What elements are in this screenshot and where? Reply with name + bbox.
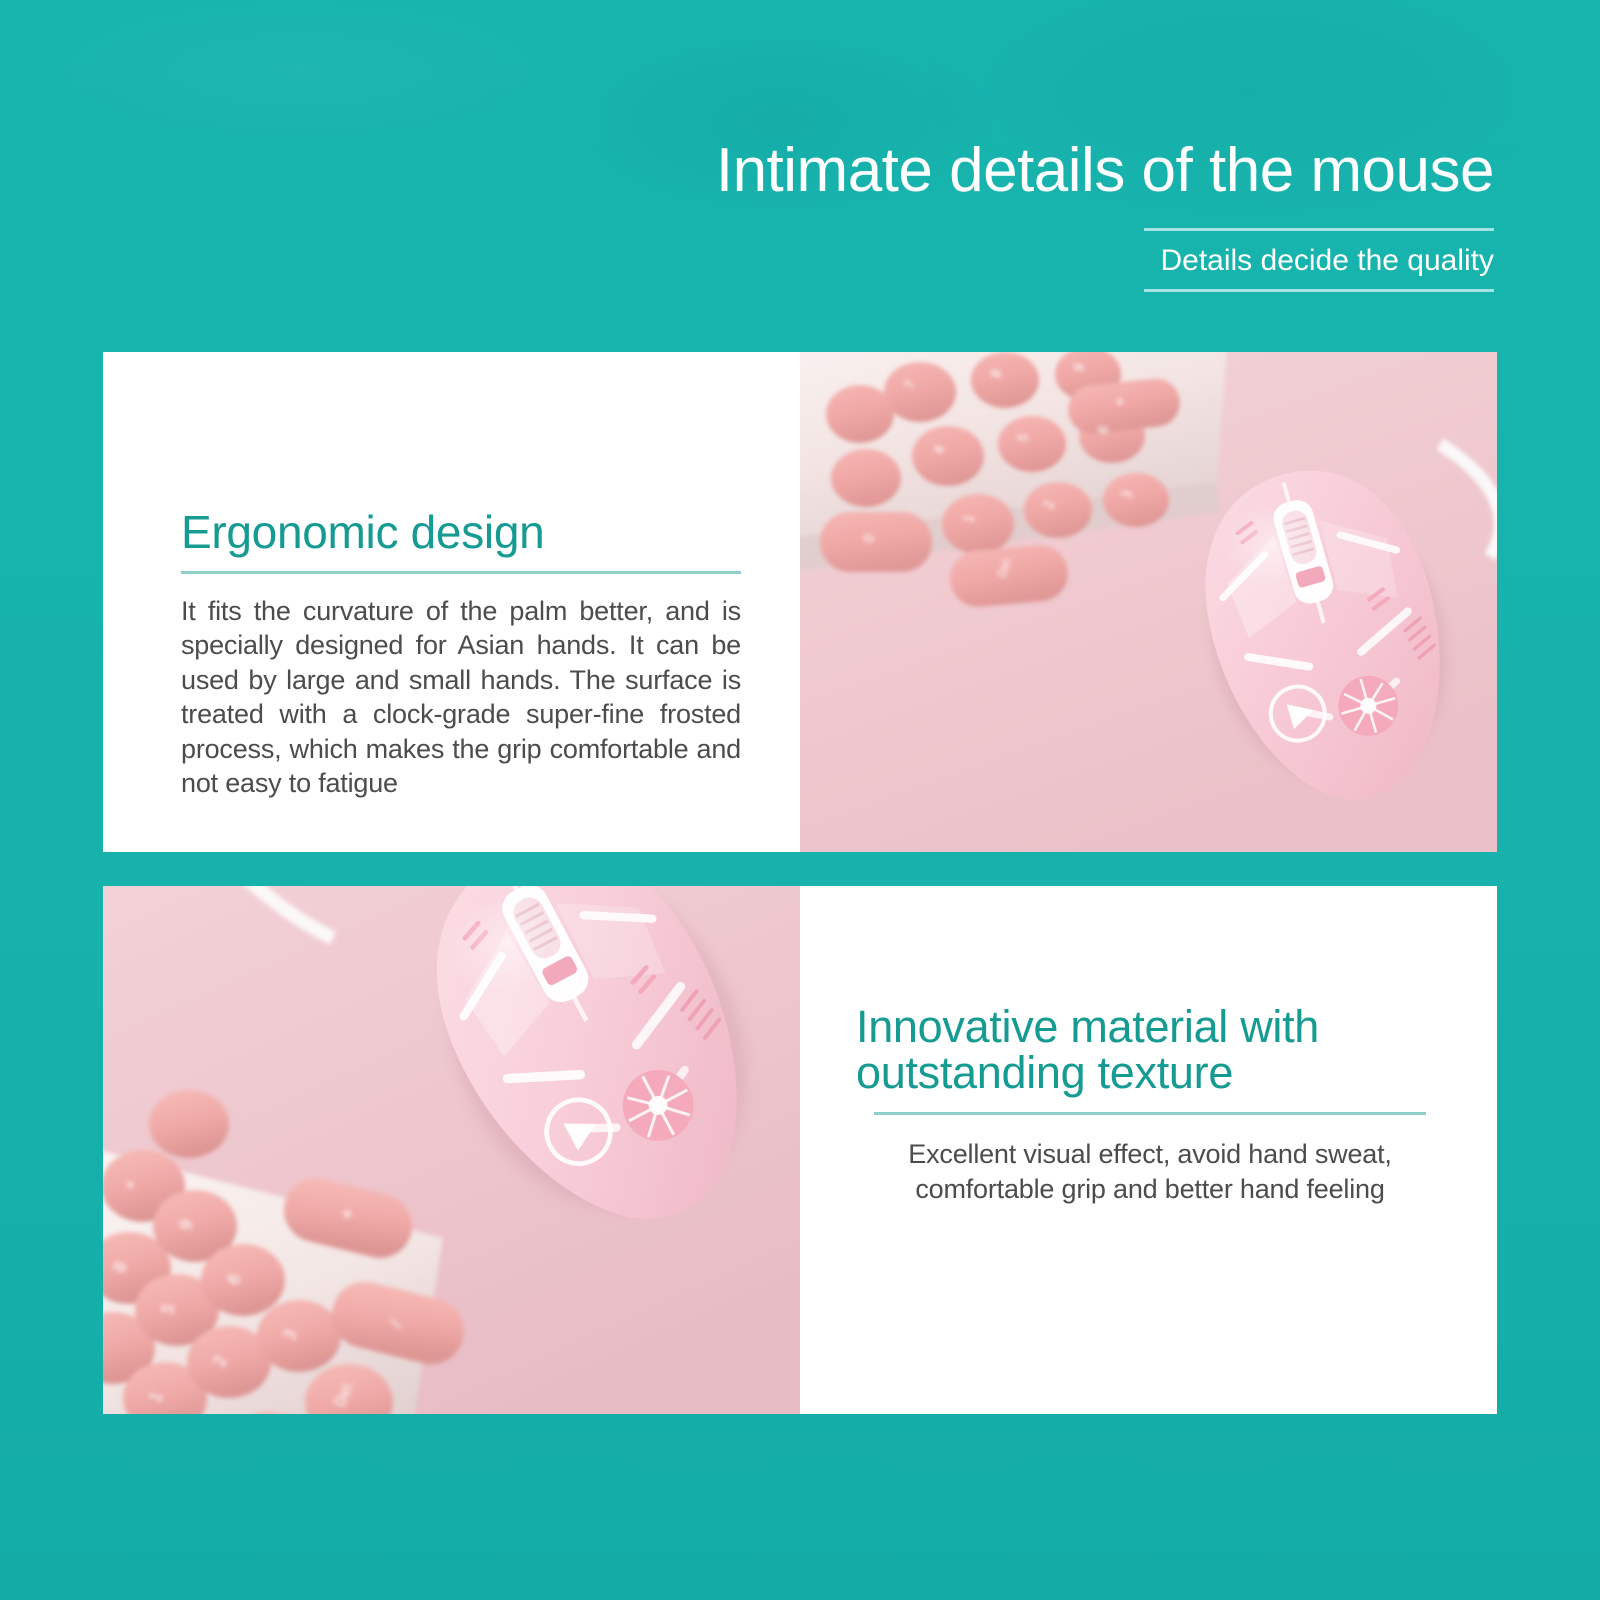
page-subtitle: Details decide the quality: [1144, 231, 1494, 289]
subtitle-block: Details decide the quality: [1144, 228, 1497, 292]
subtitle-rule-bottom: [1144, 289, 1494, 292]
feature-heading-rule-1: [181, 571, 741, 574]
feature-heading-2: Innovative material with outstanding tex…: [856, 1004, 1444, 1096]
photo-mouse-keyboard-topright: 7 8 9 4 5 6 1 2 3 0 + Del.: [800, 352, 1497, 852]
feature-text-pane-1: Ergonomic design It fits the curvature o…: [103, 352, 800, 852]
feature-heading-2-line2: outstanding texture: [856, 1050, 1444, 1096]
feature-text-inner-2: Innovative material with outstanding tex…: [856, 1004, 1444, 1207]
feature-card-ergonomic: Ergonomic design It fits the curvature o…: [103, 352, 1497, 852]
product-detail-page: Intimate details of the mouse Details de…: [0, 0, 1600, 1600]
feature-card-material: * 9 8 5 6 2 3 1 Del. + / 0: [103, 886, 1497, 1414]
feature-photo-1: 7 8 9 4 5 6 1 2 3 0 + Del.: [800, 352, 1497, 852]
feature-text-pane-2: Innovative material with outstanding tex…: [800, 886, 1497, 1414]
page-title: Intimate details of the mouse: [0, 140, 1497, 202]
photo-mouse-keycaps-bottomleft: * 9 8 5 6 2 3 1 Del. + / 0: [103, 886, 800, 1414]
feature-heading-1: Ergonomic design: [181, 508, 741, 557]
feature-text-inner-1: Ergonomic design It fits the curvature o…: [181, 508, 741, 801]
page-header: Intimate details of the mouse Details de…: [0, 140, 1497, 292]
feature-heading-rule-2: [874, 1112, 1427, 1115]
feature-photo-2: * 9 8 5 6 2 3 1 Del. + / 0: [103, 886, 800, 1414]
feature-body-2: Excellent visual effect, avoid hand swea…: [856, 1137, 1444, 1207]
feature-body-1: It fits the curvature of the palm better…: [181, 594, 741, 801]
feature-heading-2-line1: Innovative material with: [856, 1004, 1444, 1050]
